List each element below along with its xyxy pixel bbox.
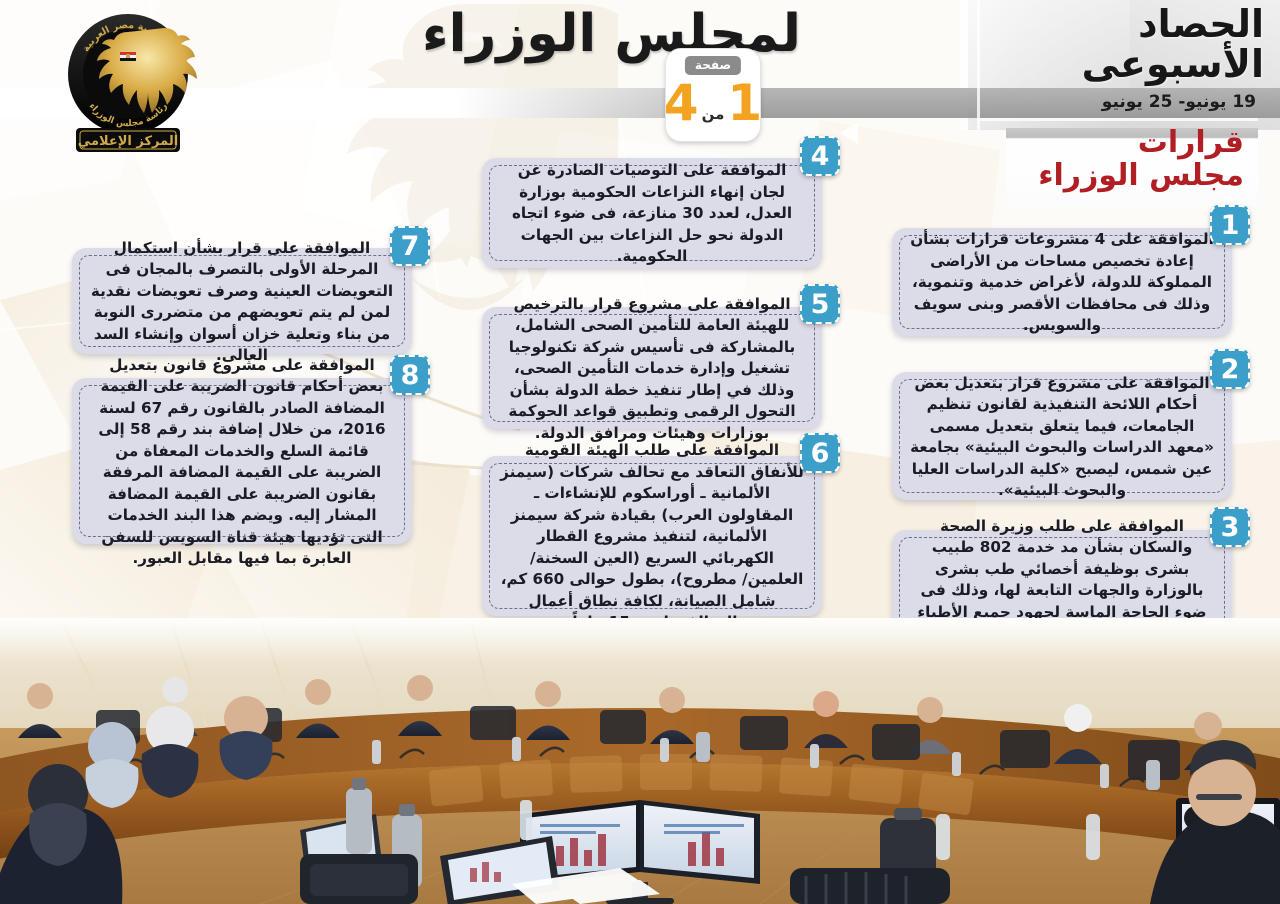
decision-text: الموافقة على مشروع قانون بتعديل بعض أحكا… [90, 355, 394, 570]
decision-number-badge: 1 [1210, 205, 1250, 245]
decision-card: الموافقة على 4 مشروعات قرارات بشأن إعادة… [892, 228, 1232, 336]
section-title-line-1: قرارات [1038, 126, 1244, 159]
decision-card-inner: الموافقة على طلب الهيئة القومية للأنفاق … [489, 463, 815, 609]
chair [790, 868, 950, 904]
title-subheading: الحصاد الأسبوعى [974, 4, 1264, 84]
decision-text: الموافقة على مشروع قرار بالترخيص للهيئة … [500, 294, 804, 445]
page-counter-badge: صفحة 1 من 4 [665, 48, 761, 142]
decision-text: الموافقة على مشروع قرار بتعديل بعض أحكام… [910, 373, 1214, 502]
decision-card: الموافقة على مشروع قانون بتعديل بعض أحكا… [72, 378, 412, 544]
decision-number-badge: 4 [800, 136, 840, 176]
decision-card: الموافقة على التوصيات الصادرة عن لجان إن… [482, 158, 822, 268]
decision-card-inner: الموافقة على التوصيات الصادرة عن لجان إن… [489, 165, 815, 261]
decision-card: الموافقة على طلب الهيئة القومية للأنفاق … [482, 456, 822, 616]
logo-flag-shield [120, 52, 136, 61]
decision-card: الموافقة على مشروع قرار بالترخيص للهيئة … [482, 307, 822, 429]
date-range-label: 19 يونيو- 25 يونيو [1102, 92, 1256, 112]
decision-card-inner: الموافقة على مشروع قرار بتعديل بعض أحكام… [899, 379, 1225, 493]
chair [300, 854, 418, 904]
decision-number-badge: 6 [800, 433, 840, 473]
government-logo: جمهورية مصر العربية رئاسة مجلس الوزراء [58, 8, 198, 160]
decision-number-badge: 3 [1210, 507, 1250, 547]
header-underline [980, 118, 1258, 121]
decision-number-badge: 8 [390, 355, 430, 395]
page-counter-numbers: 1 من 4 [666, 77, 760, 129]
title-sub-line-2: الأسبوعى [974, 44, 1264, 84]
decision-card: الموافقة على قرار بشأن استكمال المرحلة ا… [72, 248, 412, 354]
decision-text: الموافقة على طلب الهيئة القومية للأنفاق … [500, 440, 804, 634]
section-title: قرارات مجلس الوزراء [1038, 126, 1244, 192]
decision-text: الموافقة على التوصيات الصادرة عن لجان إن… [500, 160, 804, 268]
section-title-line-2: مجلس الوزراء [1038, 159, 1244, 192]
title-sub-line-1: الحصاد [974, 4, 1264, 44]
decision-card: الموافقة على مشروع قرار بتعديل بعض أحكام… [892, 372, 1232, 500]
egypt-emblem-logo-icon: جمهورية مصر العربية رئاسة مجلس الوزراء [58, 8, 198, 160]
decision-card-inner: الموافقة على 4 مشروعات قرارات بشأن إعادة… [899, 235, 1225, 329]
cabinet-meeting-photo [0, 618, 1280, 904]
page-counter-of-label: من [702, 105, 725, 129]
logo-ribbon-text: المركز الإعلامي [78, 134, 178, 149]
play-triangle-icon [840, 122, 858, 144]
decision-number-badge: 2 [1210, 349, 1250, 389]
photo-top-fade [0, 618, 1280, 664]
decision-number-badge: 5 [800, 284, 840, 324]
page-counter-current: 1 [727, 77, 762, 129]
decision-card-inner: الموافقة على قرار بشأن استكمال المرحلة ا… [79, 255, 405, 347]
decision-card-inner: الموافقة على مشروع قرار بالترخيص للهيئة … [489, 314, 815, 422]
decision-number-badge: 7 [390, 226, 430, 266]
infographic-page: جمهورية مصر العربية رئاسة مجلس الوزراء [0, 0, 1280, 904]
page-counter-caption: صفحة [685, 56, 741, 75]
decision-text: الموافقة على قرار بشأن استكمال المرحلة ا… [90, 238, 394, 367]
decision-text: الموافقة على 4 مشروعات قرارات بشأن إعادة… [910, 229, 1214, 337]
decision-card-inner: الموافقة على مشروع قانون بتعديل بعض أحكا… [79, 385, 405, 537]
page-counter-total: 4 [664, 77, 699, 129]
logo-ribbon: المركز الإعلامي [76, 128, 180, 152]
